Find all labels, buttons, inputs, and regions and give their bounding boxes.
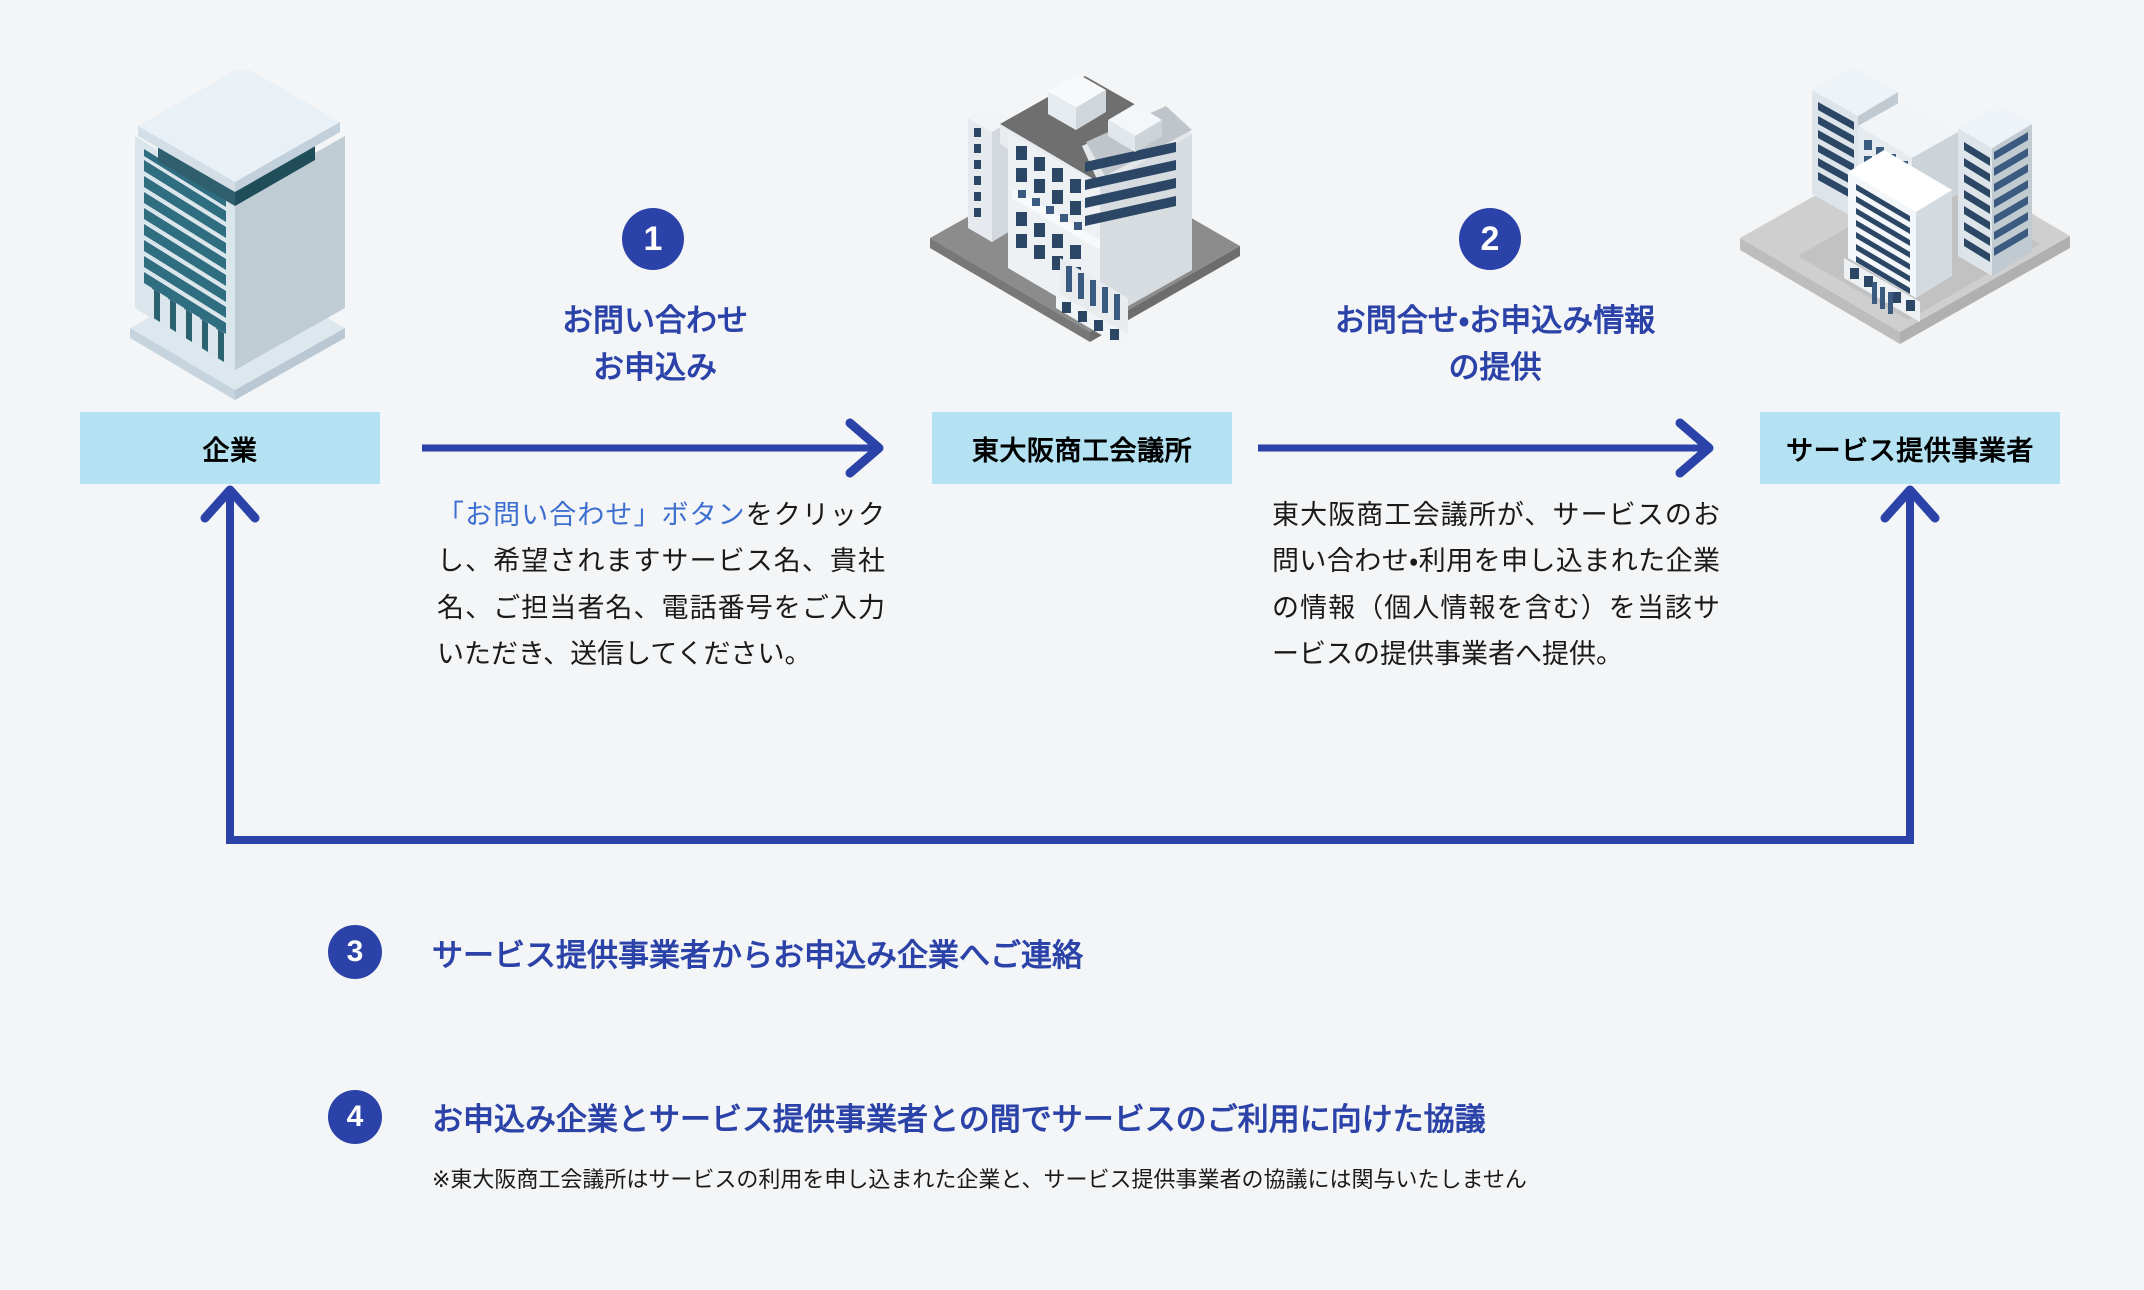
step-2-number-badge: 2 [1459,208,1521,270]
step-4-label: お申込み企業とサービス提供事業者との間でサービスのご利用に向けた協議 [432,1100,1486,1140]
step-4-number: 4 [347,1102,364,1132]
entity-box-provider: サービス提供事業者 [1760,412,2060,484]
chamber-of-commerce-building-icon [930,70,1240,400]
twin-tower-office-building-icon [1740,60,2070,400]
entity-box-chamber: 東大阪商工会議所 [932,412,1232,484]
arrow-chamber-to-provider [1258,423,1709,473]
step-1-heading: お問い合わせ お申込み [420,298,890,391]
entity-box-company: 企業 [80,412,380,484]
arrow-company-to-chamber [422,423,879,473]
step-4-number-badge: 4 [328,1090,382,1144]
step-3-label: サービス提供事業者からお申込み企業へご連絡 [432,936,1083,976]
office-tower-building-icon [100,70,370,400]
step-4-footnote: ※東大阪商工会議所はサービスの利用を申し込まれた企業と、サービス提供事業者の協議… [432,1165,1527,1196]
entity-label-company: 企業 [202,429,257,468]
step-2-description: 東大阪商工会議所が、サービスのお問い合わせ・利用を申し込まれた企業の情報（個人情… [1272,492,1720,678]
entity-label-provider: サービス提供事業者 [1786,429,2034,468]
step-1-number-badge: 1 [622,208,684,270]
step-2-heading: お問合せ・お申込み情報 の提供 [1250,298,1740,391]
process-flow-diagram: 企業 東大阪商工会議所 サービス提供事業者 1 お問い合わせ お申込み 「お問い… [0,0,2144,1290]
step-1-description: 「お問い合わせ」ボタンをクリックし、希望されますサービス名、貴社名、ご担当者名、… [437,492,885,678]
step-2-number: 2 [1481,222,1500,256]
step-3-number: 3 [347,937,364,967]
step-1-number: 1 [644,222,663,256]
step-1-description-link[interactable]: 「お問い合わせ」ボタン [437,500,746,530]
entity-label-chamber: 東大阪商工会議所 [972,429,1192,468]
step-3-number-badge: 3 [328,925,382,979]
